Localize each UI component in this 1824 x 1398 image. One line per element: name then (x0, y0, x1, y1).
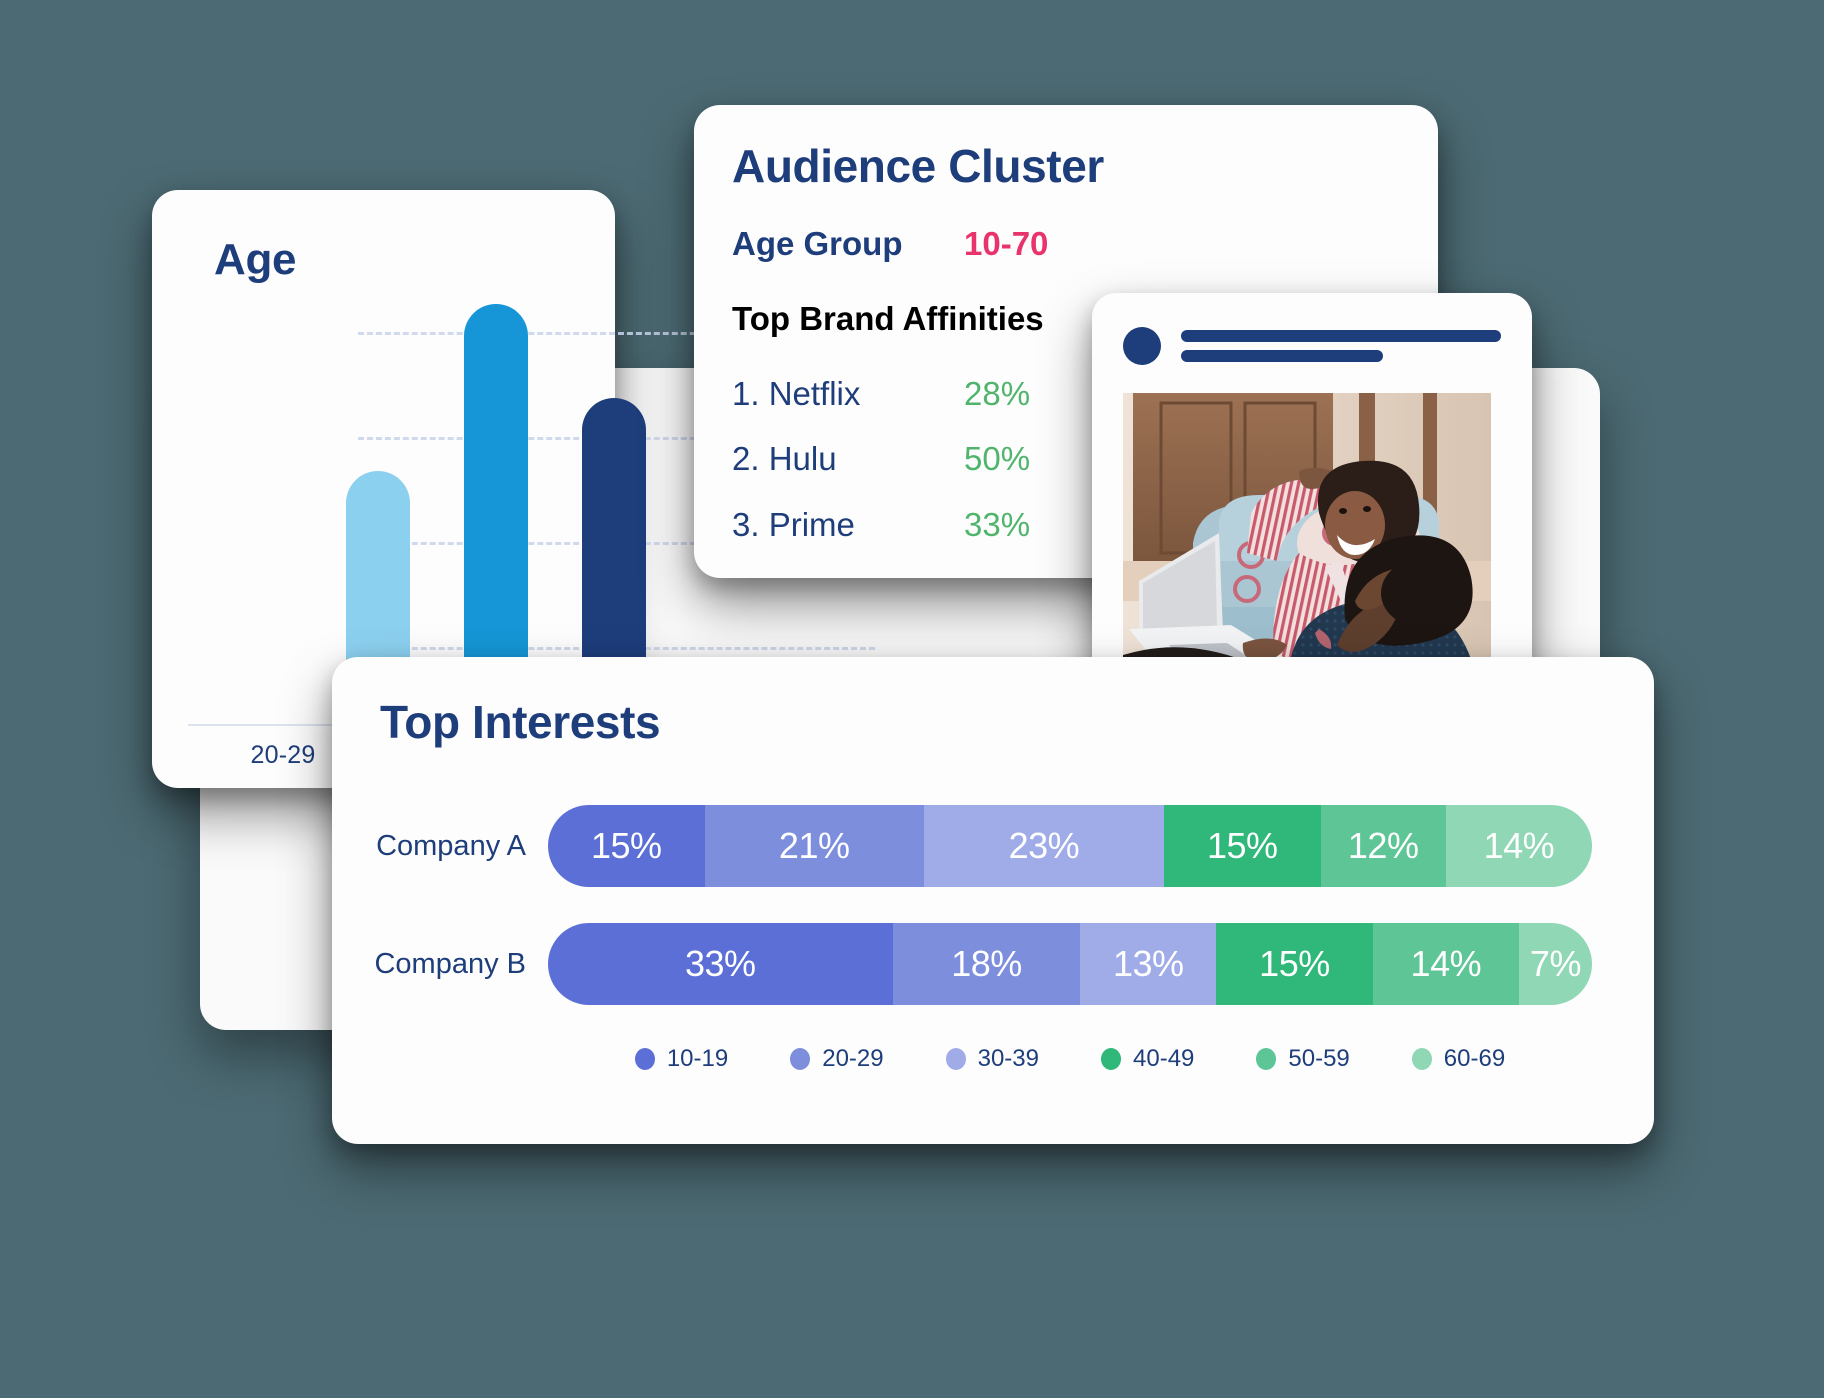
top-interests-title: Top Interests (380, 695, 660, 749)
canvas: Age 20-29 Audience Cluster Age Group 10-… (0, 0, 1824, 1398)
segment-60-69[interactable]: 7% (1519, 923, 1592, 1005)
placeholder-line-icon (1181, 350, 1383, 362)
legend-item-50-59[interactable]: 50-59 (1256, 1045, 1349, 1073)
segment-10-19[interactable]: 33% (548, 923, 893, 1005)
legend-label: 10-19 (667, 1045, 728, 1073)
top-interests-card: Top Interests Company A 15% 21% 23% 15% … (332, 657, 1654, 1144)
legend-item-60-69[interactable]: 60-69 (1412, 1045, 1505, 1073)
segment-40-49[interactable]: 15% (1216, 923, 1373, 1005)
legend-label: 20-29 (822, 1045, 883, 1073)
brand-affinity-name: 1. Netflix (732, 375, 964, 413)
segment-50-59[interactable]: 12% (1321, 805, 1446, 887)
legend-dot-icon (790, 1048, 810, 1070)
post-headline-placeholder (1181, 330, 1501, 362)
segment-40-49[interactable]: 15% (1164, 805, 1321, 887)
brand-affinity-value: 50% (964, 440, 1030, 478)
post-photo (1123, 393, 1491, 693)
legend-item-10-19[interactable]: 10-19 (635, 1045, 728, 1073)
segment-50-59[interactable]: 14% (1373, 923, 1519, 1005)
age-group-value: 10-70 (964, 225, 1048, 263)
brand-affinity-row: 2. Hulu 50% (732, 440, 1030, 478)
audience-cluster-title: Audience Cluster (732, 139, 1104, 193)
age-group-row: Age Group 10-70 (732, 225, 1048, 263)
segment-30-39[interactable]: 13% (1080, 923, 1216, 1005)
interests-row-company-a: Company A 15% 21% 23% 15% 12% 14% (332, 805, 1654, 887)
brand-affinities-heading: Top Brand Affinities (732, 300, 1044, 338)
interests-legend: 10-19 20-29 30-39 40-49 50-59 60-69 (548, 1045, 1592, 1073)
segment-60-69[interactable]: 14% (1446, 805, 1592, 887)
legend-item-20-29[interactable]: 20-29 (790, 1045, 883, 1073)
row-label-company-a: Company A (332, 830, 548, 863)
segment-10-19[interactable]: 15% (548, 805, 705, 887)
age-card-title: Age (214, 235, 296, 285)
legend-label: 60-69 (1444, 1045, 1505, 1073)
brand-affinity-value: 28% (964, 375, 1030, 413)
legend-dot-icon (635, 1048, 655, 1070)
stacked-bar-company-b: 33% 18% 13% 15% 14% 7% (548, 923, 1592, 1005)
interests-row-company-b: Company B 33% 18% 13% 15% 14% 7% (332, 923, 1654, 1005)
brand-affinity-name: 3. Prime (732, 506, 964, 544)
legend-label: 30-39 (978, 1045, 1039, 1073)
legend-label: 40-49 (1133, 1045, 1194, 1073)
brand-affinities-heading-text: Top Brand Affinities (732, 300, 1044, 338)
post-header (1123, 325, 1501, 367)
segment-20-29[interactable]: 21% (705, 805, 924, 887)
segment-30-39[interactable]: 23% (924, 805, 1164, 887)
age-group-label: Age Group (732, 225, 964, 263)
stacked-bar-company-a: 15% 21% 23% 15% 12% 14% (548, 805, 1592, 887)
segment-20-29[interactable]: 18% (893, 923, 1081, 1005)
legend-dot-icon (1256, 1048, 1276, 1070)
brand-affinity-row: 1. Netflix 28% (732, 375, 1030, 413)
legend-item-30-39[interactable]: 30-39 (946, 1045, 1039, 1073)
age-bar-30-39[interactable] (464, 304, 528, 716)
brand-affinity-name: 2. Hulu (732, 440, 964, 478)
legend-dot-icon (1412, 1048, 1432, 1070)
legend-dot-icon (946, 1048, 966, 1070)
legend-dot-icon (1101, 1048, 1121, 1070)
legend-label: 50-59 (1288, 1045, 1349, 1073)
row-label-company-b: Company B (332, 948, 548, 981)
legend-item-40-49[interactable]: 40-49 (1101, 1045, 1194, 1073)
brand-affinity-value: 33% (964, 506, 1030, 544)
placeholder-line-icon (1181, 330, 1501, 342)
avatar-circle-icon (1123, 327, 1161, 365)
brand-affinity-row: 3. Prime 33% (732, 506, 1030, 544)
